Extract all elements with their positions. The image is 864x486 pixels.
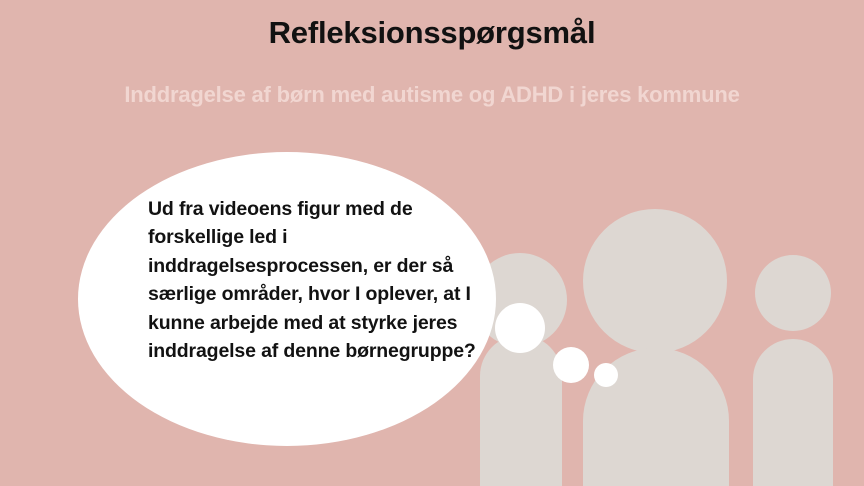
page-title: Refleksionsspørgsmål — [0, 14, 864, 51]
person-head-icon — [583, 209, 727, 353]
person-head-icon — [755, 255, 831, 331]
thought-dot-small-icon — [594, 363, 618, 387]
figure-center-large-group — [583, 209, 729, 486]
reflection-question-text: Ud fra videoens figur med de forskellige… — [148, 195, 478, 366]
slide-canvas: Ud fra videoens figur med de forskellige… — [0, 0, 864, 486]
page-subtitle: Inddragelse af børn med autisme og ADHD … — [0, 82, 864, 108]
figure-right-medium-group — [753, 255, 833, 486]
thought-dot-medium-icon — [553, 347, 589, 383]
thought-dot-large-icon — [495, 303, 545, 353]
person-body-icon — [480, 335, 562, 486]
person-body-icon — [753, 339, 833, 486]
